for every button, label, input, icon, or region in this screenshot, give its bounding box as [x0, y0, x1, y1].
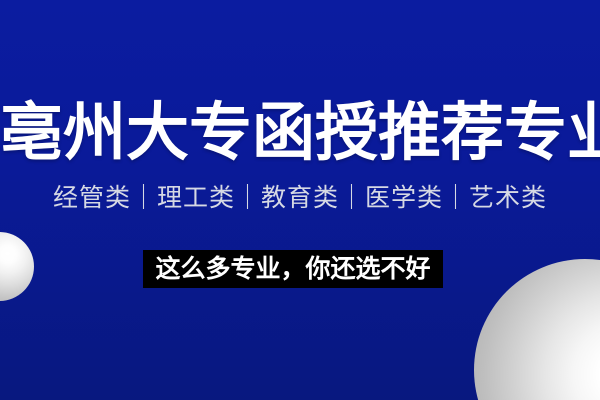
promo-poster: 亳州大专函授推荐专业 经管类｜理工类｜教育类｜医学类｜艺术类 这么多专业，你还选… [0, 0, 600, 400]
poster-subtitle-categories: 经管类｜理工类｜教育类｜医学类｜艺术类 [0, 182, 600, 214]
decorative-sphere-left-icon [0, 232, 34, 301]
decorative-sphere-right-icon [474, 259, 600, 400]
poster-callout-text: 这么多专业，你还选不好 [155, 256, 430, 282]
poster-headline: 亳州大专函授推荐专业 [0, 96, 600, 170]
poster-callout-banner: 这么多专业，你还选不好 [143, 250, 443, 288]
